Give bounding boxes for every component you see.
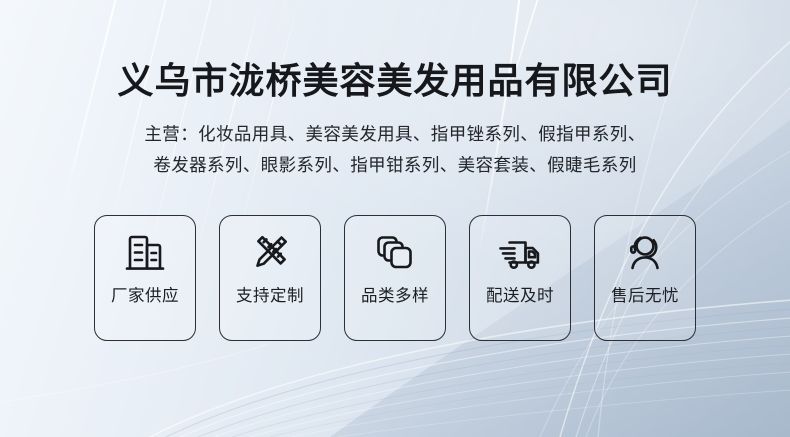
company-title: 义乌市泷桥美容美发用品有限公司 [117,0,672,102]
business-scope-line-1: 主营：化妆品用具、美容美发用具、指甲锉系列、假指甲系列、 [144,119,645,150]
feature-card-label: 售后无忧 [611,288,679,305]
headset-person-icon [622,220,668,286]
feature-card-after-sales[interactable]: 售后无忧 [594,215,696,341]
feature-card-label: 厂家供应 [111,288,179,305]
feature-card-label: 支持定制 [236,288,304,305]
feature-card-label: 品类多样 [361,288,429,305]
feature-card-variety[interactable]: 品类多样 [344,215,446,341]
company-banner: 义乌市泷桥美容美发用品有限公司 主营：化妆品用具、美容美发用具、指甲锉系列、假指… [0,0,790,437]
feature-card-fast-delivery[interactable]: 配送及时 [469,215,571,341]
banner-content: 义乌市泷桥美容美发用品有限公司 主营：化妆品用具、美容美发用具、指甲锉系列、假指… [0,0,790,437]
stacked-squares-icon [372,220,418,286]
feature-card-list: 厂家供应 支持定制 [94,215,696,341]
delivery-truck-icon [496,220,544,286]
business-scope: 主营：化妆品用具、美容美发用具、指甲锉系列、假指甲系列、 卷发器系列、眼影系列、… [144,119,645,181]
feature-card-customization[interactable]: 支持定制 [219,215,321,341]
feature-card-label: 配送及时 [486,288,554,305]
business-scope-line-2: 卷发器系列、眼影系列、指甲钳系列、美容套装、假睫毛系列 [144,150,645,181]
feature-card-factory-supply[interactable]: 厂家供应 [94,215,196,341]
pencil-ruler-icon [247,220,293,286]
building-icon [122,220,168,286]
